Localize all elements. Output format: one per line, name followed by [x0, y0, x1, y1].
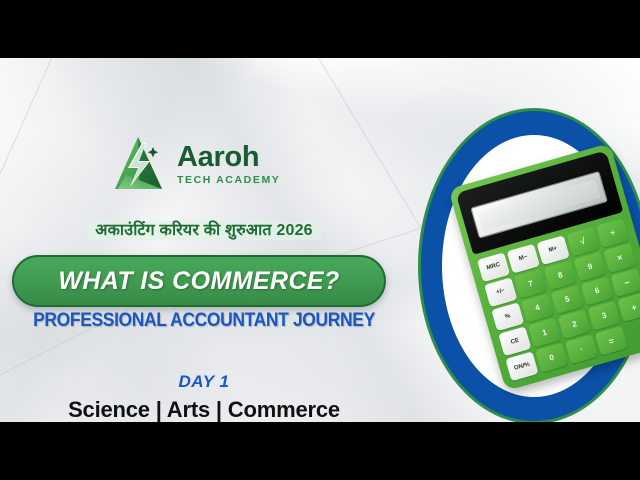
hindi-heading: अकाउंटिंग करियर की शुरुआत 2026: [0, 218, 408, 240]
slide-subtitle: PROFESSIONAL ACCOUNTANT JOURNEY: [16, 310, 391, 332]
calculator-key: 7: [514, 269, 547, 299]
hindi-heading-text: अकाउंटिंग करियर की शुरुआत 2026: [87, 221, 321, 240]
calculator-key: %: [491, 302, 524, 332]
brand-subtitle: TECH ACADEMY: [177, 174, 280, 186]
slide-canvas: MRCM−M+√÷+/−789×%456−CE123+ON/%0·=: [0, 58, 640, 422]
calculator-key: ×: [603, 243, 636, 273]
day-label: DAY 1: [0, 372, 408, 392]
calculator-key: 8: [544, 260, 577, 290]
brand-logo: Aaroh TECH ACADEMY: [112, 134, 292, 194]
mountain-lightning-logo-icon: [112, 135, 168, 193]
brand-wordmark: Aaroh TECH ACADEMY: [177, 143, 280, 186]
title-pill: WHAT IS COMMERCE?: [12, 255, 386, 307]
logo-svg: [112, 135, 168, 193]
slide-title: WHAT IS COMMERCE?: [58, 267, 339, 296]
brand-name: Aaroh: [177, 143, 280, 172]
calculator-key: 4: [521, 293, 554, 323]
calculator-key: CE: [498, 327, 531, 357]
calculator-key: +: [617, 293, 640, 323]
calculator-key: 9: [573, 252, 606, 282]
video-frame: MRCM−M+√÷+/−789×%456−CE123+ON/%0·=: [0, 0, 640, 480]
calculator-key: 1: [528, 318, 561, 348]
calculator-key: 5: [551, 285, 584, 315]
letterbox-top: [0, 0, 640, 58]
calculator-key: +/−: [484, 277, 517, 307]
letterbox-bottom: [0, 422, 640, 480]
calculator-key: −: [610, 268, 640, 298]
streams-line: Science | Arts | Commerce: [0, 397, 408, 422]
